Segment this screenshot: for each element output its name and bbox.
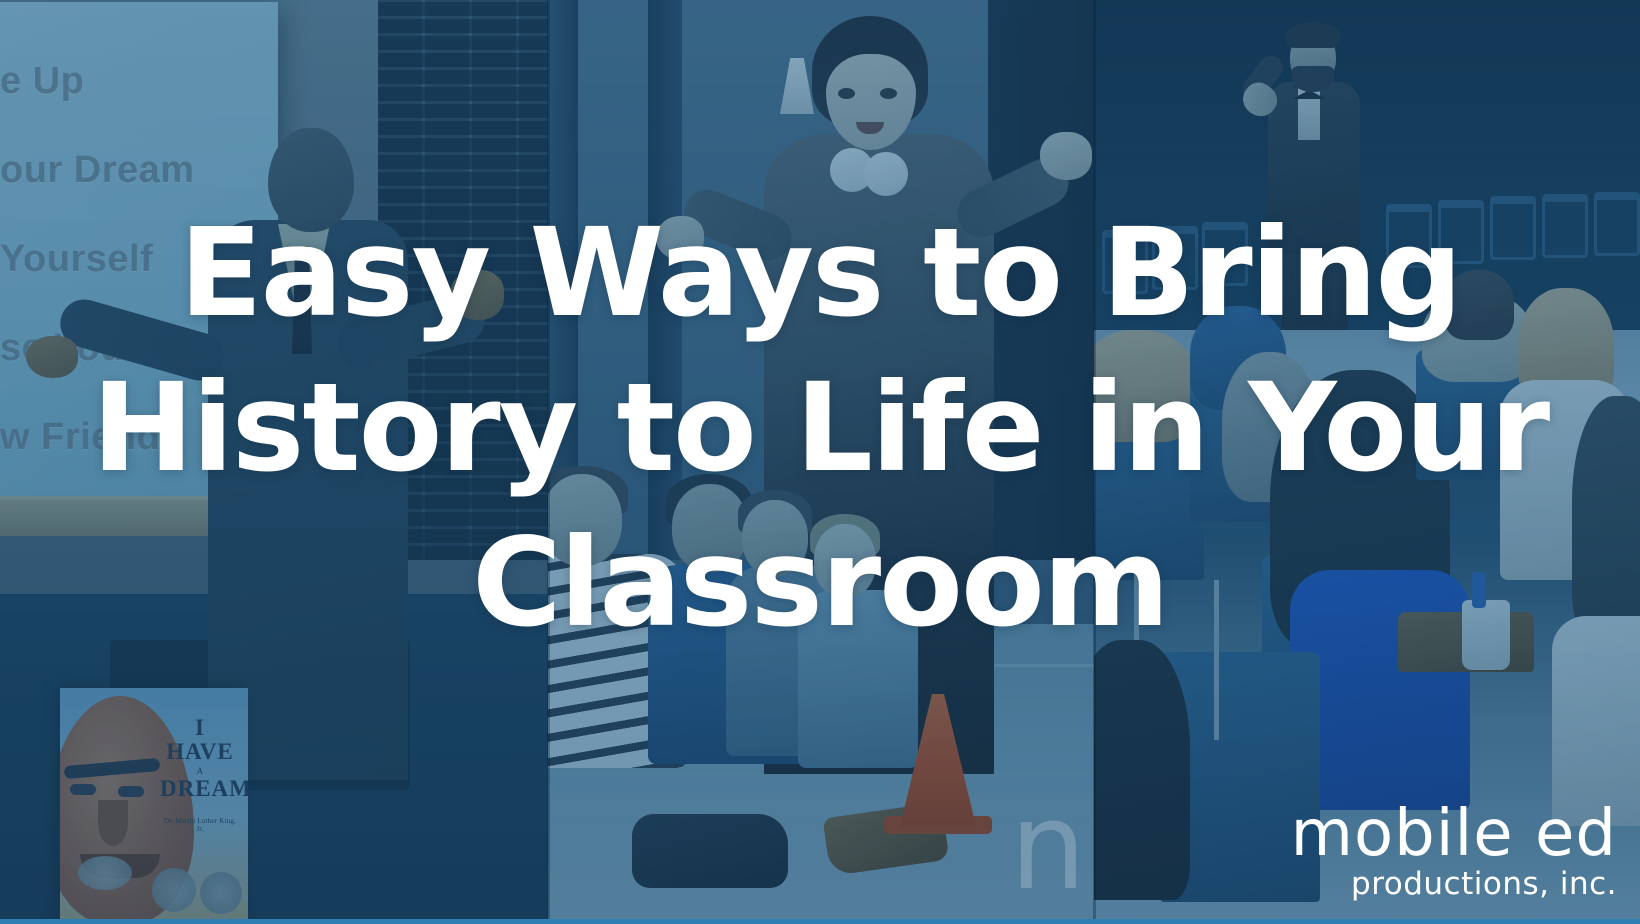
speaker-left-hand — [26, 336, 78, 378]
panel-lincoln-audience — [1094, 0, 1640, 924]
empty-chair — [1490, 196, 1536, 260]
child-4-head — [814, 524, 876, 598]
audience-head-curly — [1094, 330, 1198, 442]
book-title-dream: DREAM — [160, 777, 240, 801]
book-title-have: HAVE — [160, 740, 240, 764]
seated-child-4 — [796, 516, 926, 766]
panel-speaker-projection: e Up our Dream Yourself se Your Vo w Fri… — [0, 0, 548, 924]
book-award-seal-3 — [200, 872, 242, 914]
i-have-a-dream-book: I HAVE A DREAM Dr. Martin Luther King, J… — [60, 688, 248, 924]
reenactor-eye-right — [880, 88, 897, 99]
lincoln-hair — [1286, 22, 1340, 48]
reenactor-cravat-tail — [780, 58, 814, 114]
empty-chair — [1594, 192, 1640, 256]
book-award-seal-1 — [78, 856, 132, 890]
lincoln-beard — [1292, 66, 1334, 92]
portrait-brow — [64, 758, 161, 779]
empty-chair — [1152, 226, 1198, 290]
reenactor-cravat-bow — [834, 142, 910, 234]
screen-line-1: e Up — [0, 62, 548, 100]
empty-chair — [1542, 194, 1588, 258]
book-cover-text: I HAVE A DREAM Dr. Martin Luther King, J… — [160, 716, 240, 833]
water-tumbler — [1462, 600, 1510, 670]
book-author: Dr. Martin Luther King, Jr. — [160, 817, 240, 833]
promo-graphic: e Up our Dream Yourself se Your Vo w Fri… — [0, 0, 1640, 924]
reenactor-left-hand — [656, 216, 704, 260]
child-1-head — [548, 474, 622, 566]
mid-scene — [548, 0, 1094, 924]
gym-bag — [632, 814, 788, 888]
empty-chair — [1438, 200, 1484, 264]
audience-head — [1444, 270, 1514, 340]
audience-white-hoodie-right — [1552, 616, 1640, 826]
photo-collage: e Up our Dream Yourself se Your Vo w Fri… — [0, 0, 1640, 924]
right-scene — [1094, 0, 1640, 924]
empty-chair — [1102, 230, 1148, 294]
reenactor-eye-left — [838, 88, 855, 99]
empty-chair — [1386, 204, 1432, 268]
child-4-shirt — [798, 590, 918, 768]
audience-head-foreground — [1094, 640, 1190, 900]
book-title-i: I — [160, 716, 240, 740]
speaker-tie — [292, 246, 312, 354]
lincoln-performer — [1234, 18, 1384, 348]
tumbler-straw — [1472, 572, 1486, 608]
speaker-right-hand — [450, 270, 504, 320]
bottom-accent-bar — [0, 919, 1640, 924]
portrait-eye-right — [118, 786, 144, 797]
chair-leg — [1214, 580, 1219, 740]
portrait-eye-left — [70, 784, 96, 795]
audience-head-right-edge — [1572, 396, 1640, 636]
speaker-head — [268, 128, 354, 232]
portrait-nose — [98, 800, 128, 846]
left-scene: e Up our Dream Yourself se Your Vo w Fri… — [0, 0, 548, 924]
reenactor-right-hand — [1040, 132, 1092, 180]
panel-reenactor-children — [548, 0, 1094, 924]
book-award-seal-2 — [152, 868, 196, 912]
